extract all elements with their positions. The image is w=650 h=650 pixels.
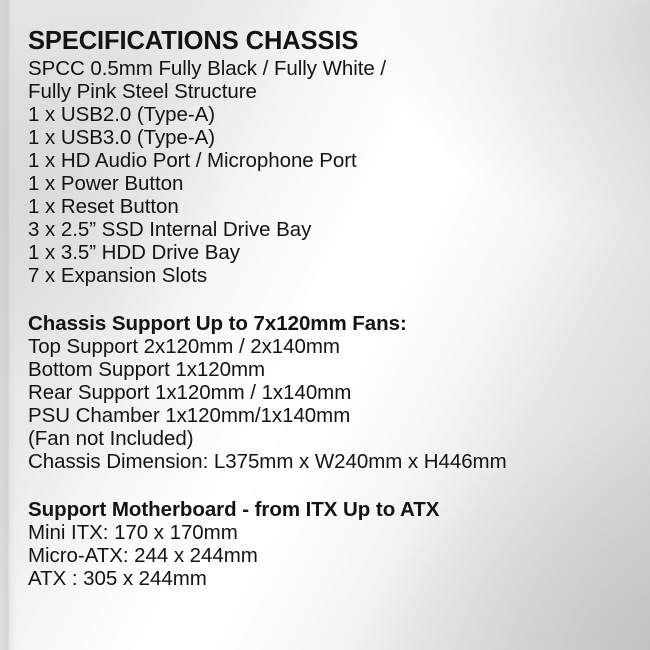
spec-line: Rear Support 1x120mm / 1x140mm xyxy=(28,381,628,404)
spec-line: 1 x HD Audio Port / Microphone Port xyxy=(28,149,628,172)
spec-line: Top Support 2x120mm / 2x140mm xyxy=(28,335,628,358)
spec-section-fan-support: Chassis Support Up to 7x120mm Fans: Top … xyxy=(28,312,628,473)
spec-line: 1 x 3.5” HDD Drive Bay xyxy=(28,241,628,264)
spec-line: Fully Pink Steel Structure xyxy=(28,80,628,103)
spec-line: 7 x Expansion Slots xyxy=(28,264,628,287)
spec-line: 1 x USB2.0 (Type-A) xyxy=(28,103,628,126)
spec-line: ATX : 305 x 244mm xyxy=(28,567,628,590)
left-edge-seam xyxy=(0,0,16,650)
spec-line: 3 x 2.5” SSD Internal Drive Bay xyxy=(28,218,628,241)
spec-line: Mini ITX: 170 x 170mm xyxy=(28,521,628,544)
spec-line: PSU Chamber 1x120mm/1x140mm xyxy=(28,404,628,427)
spec-line: 1 x USB3.0 (Type-A) xyxy=(28,126,628,149)
spec-section-chassis: SPCC 0.5mm Fully Black / Fully White / F… xyxy=(28,57,628,287)
spec-line: (Fan not Included) xyxy=(28,427,628,450)
section-heading: Chassis Support Up to 7x120mm Fans: xyxy=(28,312,628,335)
spec-line: Chassis Dimension: L375mm x W240mm x H44… xyxy=(28,450,628,473)
specifications-content: SPECIFICATIONS CHASSIS SPCC 0.5mm Fully … xyxy=(28,27,628,590)
spec-panel: SPECIFICATIONS CHASSIS SPCC 0.5mm Fully … xyxy=(0,0,650,650)
section-heading: Support Motherboard - from ITX Up to ATX xyxy=(28,498,628,521)
spec-line: SPCC 0.5mm Fully Black / Fully White / xyxy=(28,57,628,80)
spec-line: 1 x Power Button xyxy=(28,172,628,195)
page-title: SPECIFICATIONS CHASSIS xyxy=(28,27,628,56)
spec-line: 1 x Reset Button xyxy=(28,195,628,218)
section-spacer xyxy=(28,287,628,312)
spec-line: Micro-ATX: 244 x 244mm xyxy=(28,544,628,567)
section-spacer xyxy=(28,473,628,498)
spec-section-motherboard: Support Motherboard - from ITX Up to ATX… xyxy=(28,498,628,590)
spec-line: Bottom Support 1x120mm xyxy=(28,358,628,381)
